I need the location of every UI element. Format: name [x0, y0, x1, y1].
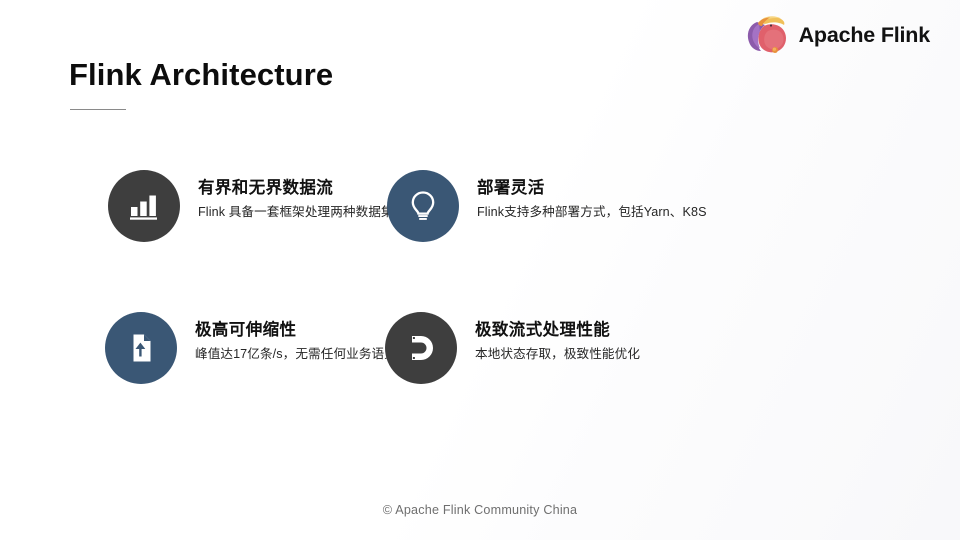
- feature-description: Flink支持多种部署方式，包括Yarn、K8S: [477, 204, 707, 220]
- feature-row: 极高可伸缩性 峰值达17亿条/s，无需任何业务语义调整 极致流式处理性能 本地状…: [0, 310, 960, 452]
- feature-text: 有界和无界数据流 Flink 具备一套框架处理两种数据集合: [198, 168, 406, 220]
- feature-badge: [387, 170, 459, 242]
- feature-item-scalability: 极高可伸缩性 峰值达17亿条/s，无需任何业务语义调整: [0, 310, 380, 452]
- lightbulb-icon: [406, 189, 440, 223]
- feature-item-stream-performance: 极致流式处理性能 本地状态存取，极致性能优化: [380, 310, 840, 452]
- feature-item-bounded-unbounded: 有界和无界数据流 Flink 具备一套框架处理两种数据集合: [0, 168, 380, 310]
- feature-item-flexible-deployment: 部署灵活 Flink支持多种部署方式，包括Yarn、K8S: [380, 168, 840, 310]
- feature-badge: [108, 170, 180, 242]
- brand-name: Apache Flink: [799, 23, 930, 48]
- title-underline: [70, 109, 126, 110]
- feature-description: 本地状态存取，极致性能优化: [475, 346, 640, 362]
- feature-description: Flink 具备一套框架处理两种数据集合: [198, 204, 406, 220]
- brand-logo: Apache Flink: [744, 14, 930, 56]
- bar-chart-icon: [127, 189, 161, 223]
- feature-text: 极致流式处理性能 本地状态存取，极致性能优化: [475, 310, 640, 362]
- magnet-icon: [404, 331, 438, 365]
- file-upload-icon: [124, 331, 158, 365]
- feature-row: 有界和无界数据流 Flink 具备一套框架处理两种数据集合 部署灵活 Flink…: [0, 168, 960, 310]
- flink-squirrel-icon: [744, 14, 790, 56]
- footer-copyright: © Apache Flink Community China: [0, 503, 960, 517]
- slide: Apache Flink Flink Architecture 有界和无界数据流: [0, 0, 960, 540]
- feature-text: 部署灵活 Flink支持多种部署方式，包括Yarn、K8S: [477, 168, 707, 220]
- page-title: Flink Architecture: [69, 57, 333, 93]
- feature-title: 极致流式处理性能: [475, 320, 640, 341]
- feature-title: 部署灵活: [477, 178, 707, 199]
- feature-badge: [385, 312, 457, 384]
- feature-title: 有界和无界数据流: [198, 178, 406, 199]
- feature-badge: [105, 312, 177, 384]
- feature-grid: 有界和无界数据流 Flink 具备一套框架处理两种数据集合 部署灵活 Flink…: [0, 168, 960, 452]
